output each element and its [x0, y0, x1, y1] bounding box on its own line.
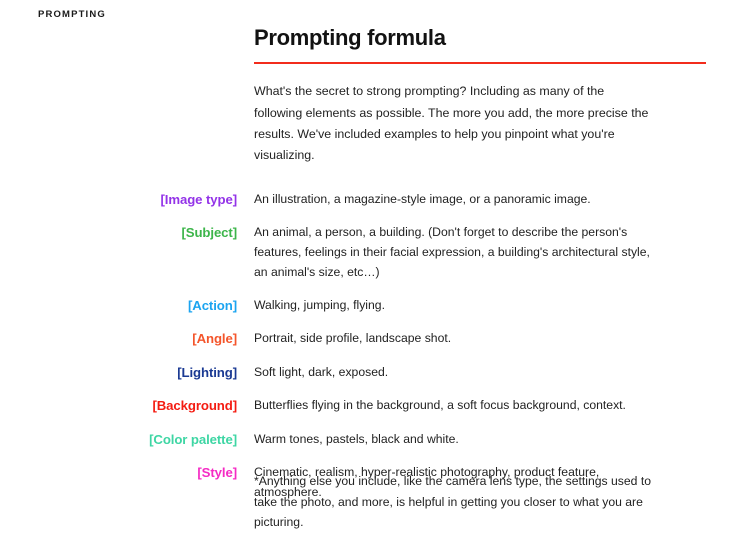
formula-description-image-type: An illustration, a magazine-style image,…: [254, 190, 654, 210]
formula-description-background: Butterflies flying in the background, a …: [254, 396, 654, 416]
list-item: [Image type] An illustration, a magazine…: [0, 190, 750, 210]
content-column: Prompting formula What's the secret to s…: [254, 26, 706, 179]
formula-label-image-type: [Image type]: [0, 190, 237, 210]
formula-description-angle: Portrait, side profile, landscape shot.: [254, 329, 654, 349]
formula-label-subject: [Subject]: [0, 223, 237, 243]
formula-label-style: [Style]: [0, 463, 237, 483]
list-item: [Action] Walking, jumping, flying.: [0, 296, 750, 316]
list-item: [Lighting] Soft light, dark, exposed.: [0, 363, 750, 383]
title-divider: [254, 62, 706, 64]
formula-list: [Image type] An illustration, a magazine…: [0, 190, 750, 516]
formula-label-angle: [Angle]: [0, 329, 237, 349]
formula-label-color-palette: [Color palette]: [0, 430, 237, 450]
formula-description-subject: An animal, a person, a building. (Don't …: [254, 223, 654, 282]
section-eyebrow: PROMPTING: [38, 9, 106, 20]
intro-paragraph: What's the secret to strong prompting? I…: [254, 81, 654, 166]
list-item: [Subject] An animal, a person, a buildin…: [0, 223, 750, 282]
list-item: [Color palette] Warm tones, pastels, bla…: [0, 430, 750, 450]
formula-description-action: Walking, jumping, flying.: [254, 296, 654, 316]
footnote: *Anything else you include, like the cam…: [254, 471, 654, 533]
page-title: Prompting formula: [254, 26, 706, 50]
formula-label-background: [Background]: [0, 396, 237, 416]
formula-label-action: [Action]: [0, 296, 237, 316]
formula-label-lighting: [Lighting]: [0, 363, 237, 383]
list-item: [Background] Butterflies flying in the b…: [0, 396, 750, 416]
list-item: [Angle] Portrait, side profile, landscap…: [0, 329, 750, 349]
formula-description-lighting: Soft light, dark, exposed.: [254, 363, 654, 383]
formula-description-color-palette: Warm tones, pastels, black and white.: [254, 430, 654, 450]
